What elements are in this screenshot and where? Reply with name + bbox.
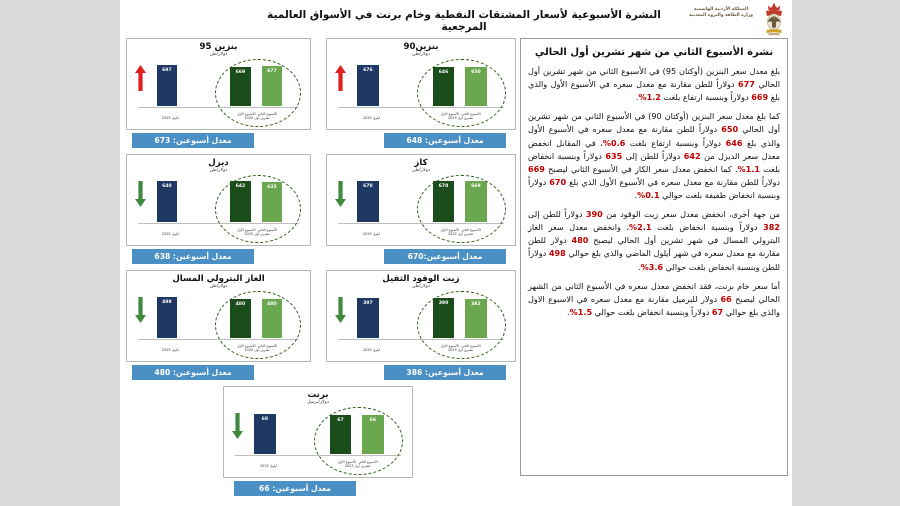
chart-plot-area: 670670669أيلول 2025الأسبوع الثاني الأسبو… bbox=[331, 173, 511, 241]
summary-lpg: معدل أسبوعين: 480 bbox=[132, 365, 254, 380]
summary-kaz: معدل أسبوعين:670 bbox=[384, 249, 506, 264]
bar-value-label: 697 bbox=[157, 68, 178, 73]
bar-أيلول 2025: 670 bbox=[356, 180, 379, 223]
bar-أيلول 2025: 697 bbox=[156, 64, 179, 107]
highlight-circle bbox=[215, 59, 301, 127]
highlight-circle bbox=[417, 291, 505, 359]
ministry-emblem: المملكة الأردنية الهاشمية وزارة الطاقة و… bbox=[678, 2, 790, 36]
trend-up-arrow-icon bbox=[135, 65, 146, 91]
x-tick-prev-month: أيلول 2025 bbox=[150, 116, 190, 120]
emblem-text: المملكة الأردنية الهاشمية وزارة الطاقة و… bbox=[684, 7, 758, 20]
chart-title: زيت الوقود الثقيل bbox=[327, 274, 515, 284]
chart-card-benzine90: بنزين90دولار/طن676646650أيلول 2025الأسبو… bbox=[326, 38, 516, 130]
highlight-circle bbox=[215, 291, 301, 359]
chart-title: ديزل bbox=[127, 158, 310, 168]
chart-plot-area: 676646650أيلول 2025الأسبوع الثاني الأسبو… bbox=[331, 57, 511, 125]
chart-plot-area: 697669677أيلول 2025الأسبوع الثاني الأسبو… bbox=[131, 57, 306, 125]
chart-title: الغاز البترولي المسال bbox=[127, 274, 310, 284]
chart-card-brent: برنتدولار/برميل686766أيلول 2025الأسبوع ا… bbox=[223, 386, 413, 478]
summary-heavy-fuel-oil: معدل أسبوعين: 386 bbox=[384, 365, 506, 380]
chart-title: بنزين 95 bbox=[127, 42, 310, 52]
emblem-line-2: وزارة الطاقة والثروة المعدنية bbox=[684, 13, 758, 19]
charts-column: بنزين90دولار/طن676646650أيلول 2025الأسبو… bbox=[126, 38, 516, 500]
bar-أيلول 2025: 640 bbox=[156, 180, 179, 223]
bar-value-label: 68 bbox=[254, 417, 275, 422]
jordan-coat-of-arms-icon bbox=[760, 3, 788, 36]
summary-benzine95: معدل أسبوعين: 673 bbox=[132, 133, 254, 148]
x-tick-prev-month: أيلول 2025 bbox=[150, 348, 190, 352]
bar-value-label: 498 bbox=[157, 300, 178, 305]
x-tick-prev-month: أيلول 2025 bbox=[351, 348, 392, 352]
bar-أيلول 2025: 676 bbox=[356, 64, 379, 107]
chart-plot-area: 640642635أيلول 2025الأسبوع الثاني الأسبو… bbox=[131, 173, 306, 241]
chart-diesel: ديزلدولار/طن640642635أيلول 2025الأسبوع ا… bbox=[127, 155, 310, 245]
trend-down-arrow-icon bbox=[135, 297, 146, 323]
document-page: النشرة الأسبوعية لأسعار المشتقات النفطية… bbox=[120, 0, 792, 506]
chart-card-heavy-fuel-oil: زيت الوقود الثقيلدولار/طن397390382أيلول … bbox=[326, 270, 516, 362]
bar-value-label: 397 bbox=[357, 301, 378, 306]
chart-lpg: الغاز البترولي المسالدولار/طن498480480أي… bbox=[127, 271, 310, 361]
bulletin-paragraph-3: من جهة أخرى، انخفض معدل سعر زيت الوقود م… bbox=[528, 208, 780, 274]
bulletin-title: نشرة الأسبوع الثاني من شهر تشرين أول الح… bbox=[528, 47, 780, 58]
trend-down-arrow-icon bbox=[135, 181, 146, 207]
bar-value-label: 640 bbox=[157, 184, 178, 189]
highlight-circle bbox=[417, 175, 505, 243]
chart-plot-area: 397390382أيلول 2025الأسبوع الثاني الأسبو… bbox=[331, 289, 511, 357]
x-tick-prev-month: أيلول 2025 bbox=[351, 232, 392, 236]
highlight-circle bbox=[215, 175, 301, 243]
summary-benzine90: معدل أسبوعين: 648 bbox=[384, 133, 506, 148]
chart-card-kaz: كازدولار/طن670670669أيلول 2025الأسبوع ال… bbox=[326, 154, 516, 246]
chart-title: برنت bbox=[224, 390, 412, 400]
trend-up-arrow-icon bbox=[335, 65, 346, 91]
bar-أيلول 2025: 397 bbox=[356, 297, 379, 339]
chart-card-diesel: ديزلدولار/طن640642635أيلول 2025الأسبوع ا… bbox=[126, 154, 311, 246]
bulletin-text-panel: نشرة الأسبوع الثاني من شهر تشرين أول الح… bbox=[520, 38, 788, 476]
bulletin-paragraph-1: بلغ معدل سعر البنزين (أوكتان 95) في الأس… bbox=[528, 65, 780, 104]
bar-أيلول 2025: 68 bbox=[253, 413, 276, 455]
bulletin-paragraph-2: كما بلغ معدل سعر البنزين (أوكتان 90) في … bbox=[528, 110, 780, 202]
x-tick-prev-month: أيلول 2025 bbox=[248, 464, 289, 468]
trend-down-arrow-icon bbox=[335, 181, 346, 207]
summary-diesel: معدل أسبوعين: 638 bbox=[132, 249, 254, 264]
summary-brent: معدل أسبوعين: 66 bbox=[234, 481, 356, 496]
bar-value-label: 676 bbox=[357, 68, 378, 73]
highlight-circle bbox=[417, 59, 505, 127]
chart-card-lpg: الغاز البترولي المسالدولار/طن498480480أي… bbox=[126, 270, 311, 362]
chart-kaz: كازدولار/طن670670669أيلول 2025الأسبوع ال… bbox=[327, 155, 515, 245]
chart-plot-area: 686766أيلول 2025الأسبوع الثاني الأسبوع ا… bbox=[228, 405, 408, 473]
bar-أيلول 2025: 498 bbox=[156, 296, 179, 339]
page-title: النشرة الأسبوعية لأسعار المشتقات النفطية… bbox=[254, 9, 674, 33]
bulletin-paragraph-4: أما سعر خام برنت، فقد انخفض معدل سعره في… bbox=[528, 280, 780, 319]
x-tick-prev-month: أيلول 2025 bbox=[150, 232, 190, 236]
trend-down-arrow-icon bbox=[232, 413, 243, 439]
chart-benzine90: بنزين90دولار/طن676646650أيلول 2025الأسبو… bbox=[327, 39, 515, 129]
chart-brent: برنتدولار/برميل686766أيلول 2025الأسبوع ا… bbox=[224, 387, 412, 477]
highlight-circle bbox=[314, 407, 402, 475]
document-header: النشرة الأسبوعية لأسعار المشتقات النفطية… bbox=[120, 0, 792, 38]
chart-heavy-fuel-oil: زيت الوقود الثقيلدولار/طن397390382أيلول … bbox=[327, 271, 515, 361]
text-column: نشرة الأسبوع الثاني من شهر تشرين أول الح… bbox=[520, 38, 788, 500]
trend-down-arrow-icon bbox=[335, 297, 346, 323]
chart-benzine95: بنزين 95دولار/طن697669677أيلول 2025الأسب… bbox=[127, 39, 310, 129]
document-body: نشرة الأسبوع الثاني من شهر تشرين أول الح… bbox=[120, 38, 792, 506]
chart-title: كاز bbox=[327, 158, 515, 168]
bar-value-label: 670 bbox=[357, 184, 378, 189]
x-tick-prev-month: أيلول 2025 bbox=[351, 116, 392, 120]
chart-title: بنزين90 bbox=[327, 42, 515, 52]
chart-plot-area: 498480480أيلول 2025الأسبوع الثاني الأسبو… bbox=[131, 289, 306, 357]
chart-card-benzine95: بنزين 95دولار/طن697669677أيلول 2025الأسب… bbox=[126, 38, 311, 130]
